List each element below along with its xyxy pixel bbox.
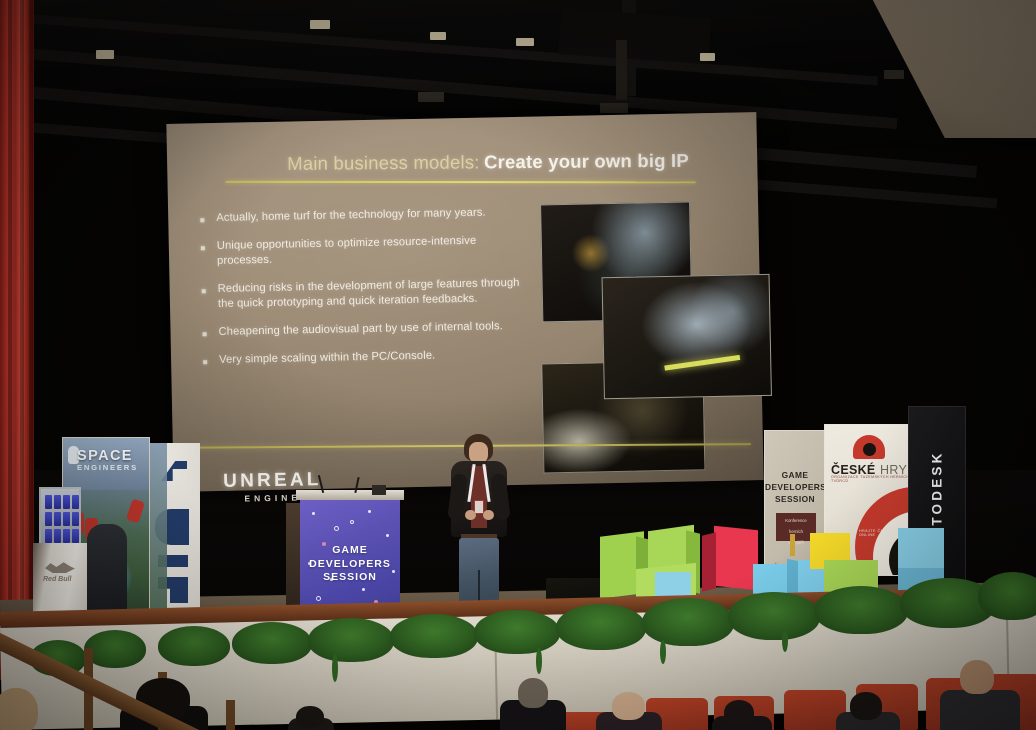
red-bull-logo-icon [45,561,75,573]
list-item: Cheapening the audiovisual part by use o… [202,319,532,341]
podium-line-2: DEVELOPERS [300,558,400,572]
stage-light-5 [700,53,715,61]
list-item: Unique opportunities to optimize resourc… [201,233,532,270]
slide-title-lead: Main business models: [287,151,480,174]
bullet-text: Actually, home turf for the technology f… [216,206,486,226]
audience-head [724,700,754,726]
audience-head [296,706,324,728]
stage-light-8 [884,70,904,79]
conference-photo-scene: Main business models: Create your own bi… [0,0,1036,730]
fern-plant [556,604,646,650]
truss-beam-2 [0,46,898,129]
bullet-text: Reducing risks in the development of lar… [218,276,533,312]
bullet-square-icon [203,332,207,336]
ivy-strand [782,630,788,652]
fern-plant [84,630,146,668]
engineers-wordmark: ENGINEERS [77,463,138,472]
stage-light-4 [516,38,534,46]
ceske-hry-logo-dot [863,443,876,456]
fern-plant [474,610,560,654]
audience-torso [940,690,1020,730]
audience-head [518,678,548,708]
ivy-strand [332,654,338,682]
award-statue [790,534,795,556]
podium-branding: GAME DEVELOPERS SESSION [300,544,400,585]
fern-plant [390,614,478,658]
fern-plant [814,586,908,634]
bullet-square-icon [201,246,205,250]
cooler-glass-door [39,487,81,545]
fern-plant [728,592,820,640]
bullet-text: Unique opportunities to optimize resourc… [217,233,532,269]
stage-light-7 [600,103,628,113]
slide-bullet-list: Actually, home turf for the technology f… [200,205,533,382]
speaker-hand-left [465,510,476,520]
bullet-square-icon [200,218,204,222]
space-wordmark: SPACE [77,448,133,464]
bullet-text: Very simple scaling within the PC/Consol… [219,349,436,368]
title-underline [226,181,696,184]
slide-title-emphasis: Create your own big IP [484,150,689,173]
gds-line-3: SESSION [765,493,825,505]
red-bull-wordmark: Red Bull [43,576,71,583]
bullet-square-icon [202,289,206,293]
slide-title: Main business models: Create your own bi… [287,150,717,175]
podium-line-3: SESSION [300,571,400,585]
gds-banner-title: GAME DEVELOPERS SESSION [765,469,825,505]
fern-plant [978,572,1036,620]
bullet-square-icon [203,360,207,364]
truss-beam-1 [0,12,878,85]
audience-head [850,692,882,720]
audience-head [612,692,645,720]
audience-head [0,688,38,730]
fern-plant [158,626,230,666]
gds-box-line-1: Konference [776,518,816,524]
gds-line-2: DEVELOPERS [765,481,825,493]
fern-plant [232,622,312,664]
ivy-strand [536,648,542,674]
ivy-strand [660,640,666,664]
stage-light-3 [430,32,446,40]
stage-light-1 [96,50,114,59]
truss-vertical-drop [616,40,627,100]
stage-light-2 [310,20,330,29]
red-figure-3 [126,499,145,524]
podium-top-surface [296,490,404,500]
cube-red [714,528,758,588]
game-screenshot-middle [602,274,772,399]
podium-line-1: GAME [300,544,400,558]
audience-head [960,660,994,694]
list-item: Actually, home turf for the technology f… [200,205,530,227]
list-item: Reducing risks in the development of lar… [202,276,533,313]
fern-plant [308,618,394,662]
bullet-text: Cheapening the audiovisual part by use o… [218,319,503,340]
stage-light-6 [418,92,444,102]
screenshot-light-streak [664,355,740,371]
handrail-post-3 [226,700,235,730]
stage-curtain [0,0,34,680]
gds-line-1: GAME [765,469,825,481]
ceske-hry-subtitle: ORGANIZACE TUZEMSKÝCH HERNÍCH TVŮRCŮ [831,475,911,483]
podium-device [372,485,386,495]
fern-plant [642,598,734,646]
speaker-hand-right [483,510,494,520]
list-item: Very simple scaling within the PC/Consol… [203,347,533,369]
